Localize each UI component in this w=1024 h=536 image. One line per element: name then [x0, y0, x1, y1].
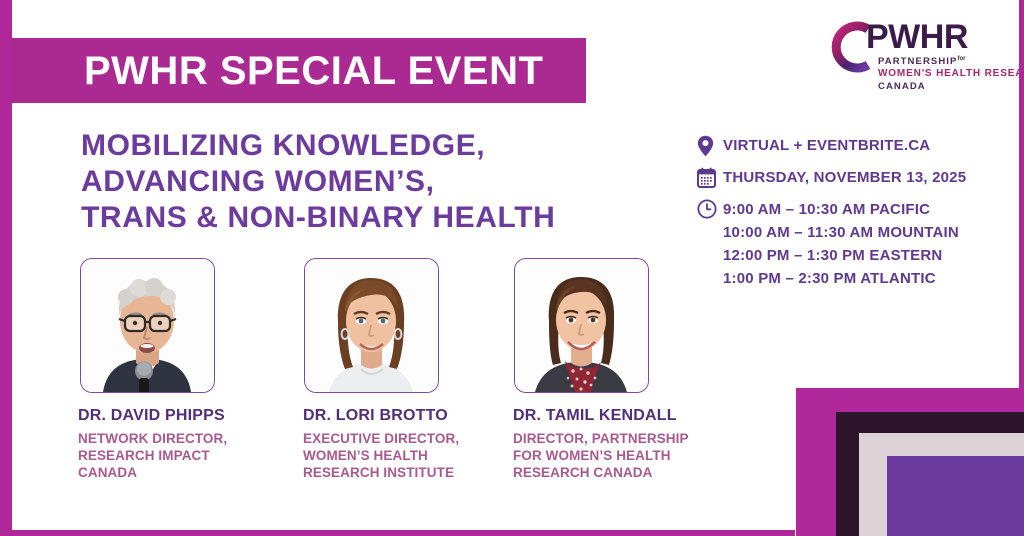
- speaker-name: DR. LORI BROTTO: [303, 406, 503, 426]
- logo-tagline-line3: CANADA: [878, 81, 926, 92]
- speaker-role-line: NETWORK DIRECTOR,: [78, 430, 278, 447]
- speaker-role-line: FOR WOMEN’S HEALTH: [513, 447, 718, 464]
- frame-edge-top: [0, 0, 1024, 4]
- speaker-card: DR. TAMIL KENDALL DIRECTOR, PARTNERSHIP …: [513, 258, 718, 481]
- speaker-role-line: RESEARCH IMPACT: [78, 447, 278, 464]
- speaker-role-line: EXECUTIVE DIRECTOR,: [303, 430, 503, 447]
- detail-times-list: 9:00 AM – 10:30 AM PACIFIC 10:00 AM – 11…: [723, 198, 959, 290]
- headline-line-2: ADVANCING WOMEN’S,: [81, 164, 661, 200]
- location-pin-icon: [697, 134, 723, 159]
- frame-edge-right: [1019, 0, 1024, 402]
- detail-time-atlantic: 1:00 PM – 2:30 PM ATLANTIC: [723, 267, 959, 290]
- detail-times: 9:00 AM – 10:30 AM PACIFIC 10:00 AM – 11…: [697, 198, 997, 290]
- detail-location-text: VIRTUAL + EVENTBRITE.CA: [723, 134, 930, 157]
- speaker-card: DR. DAVID PHIPPS NETWORK DIRECTOR, RESEA…: [78, 258, 278, 481]
- detail-time-pacific: 9:00 AM – 10:30 AM PACIFIC: [723, 198, 959, 221]
- detail-location: VIRTUAL + EVENTBRITE.CA: [697, 134, 997, 159]
- speaker-name: DR. DAVID PHIPPS: [78, 406, 278, 426]
- logo-tagline-line1: PARTNERSHIPfor: [878, 56, 966, 67]
- pwhr-logo: PWHR PARTNERSHIPfor WOMEN'S HEALTH RESEA…: [820, 16, 1000, 94]
- event-headline: MOBILIZING KNOWLEDGE, ADVANCING WOMEN’S,…: [81, 128, 661, 236]
- logo-tagline-line2: WOMEN'S HEALTH RESEARCH: [878, 68, 1024, 79]
- detail-date: THURSDAY, NOVEMBER 13, 2025: [697, 166, 997, 191]
- portrait-lori-brotto: [304, 258, 439, 393]
- speaker-name: DR. TAMIL KENDALL: [513, 406, 718, 426]
- logo-wordmark: PWHR: [866, 18, 968, 56]
- headline-line-3: TRANS & NON-BINARY HEALTH: [81, 200, 661, 236]
- speaker-role-line: RESEARCH CANADA: [513, 464, 718, 481]
- clock-icon: [697, 198, 723, 223]
- frame-edge-left: [0, 0, 12, 536]
- banner-title: PWHR SPECIAL EVENT: [84, 46, 543, 96]
- speaker-role-line: RESEARCH INSTITUTE: [303, 464, 503, 481]
- logo-tagline-partnership: PARTNERSHIP: [878, 56, 958, 67]
- calendar-icon: [697, 166, 723, 191]
- detail-time-eastern: 12:00 PM – 1:30 PM EASTERN: [723, 244, 959, 267]
- logo-tagline-for: for: [958, 56, 966, 62]
- detail-time-mountain: 10:00 AM – 11:30 AM MOUNTAIN: [723, 221, 959, 244]
- headline-line-1: MOBILIZING KNOWLEDGE,: [81, 128, 661, 164]
- event-details: VIRTUAL + EVENTBRITE.CA: [697, 134, 997, 297]
- speaker-card: DR. LORI BROTTO EXECUTIVE DIRECTOR, WOME…: [303, 258, 503, 481]
- corner-decoration: [796, 388, 1024, 536]
- portrait-tamil-kendall: [514, 258, 649, 393]
- event-poster: PWHR SPECIAL EVENT PWHR PARTNERSHIPfor W…: [0, 0, 1024, 536]
- frame-edge-bottom: [0, 530, 795, 536]
- speaker-role-line: CANADA: [78, 464, 278, 481]
- speaker-role: DIRECTOR, PARTNERSHIP FOR WOMEN’S HEALTH…: [513, 430, 718, 481]
- detail-date-text: THURSDAY, NOVEMBER 13, 2025: [723, 166, 966, 189]
- speaker-role: NETWORK DIRECTOR, RESEARCH IMPACT CANADA: [78, 430, 278, 481]
- speaker-role: EXECUTIVE DIRECTOR, WOMEN’S HEALTH RESEA…: [303, 430, 503, 481]
- portrait-david-phipps: [80, 258, 215, 393]
- speaker-role-line: DIRECTOR, PARTNERSHIP: [513, 430, 718, 447]
- corner-layer-purple: [887, 456, 1024, 536]
- speaker-role-line: WOMEN’S HEALTH: [303, 447, 503, 464]
